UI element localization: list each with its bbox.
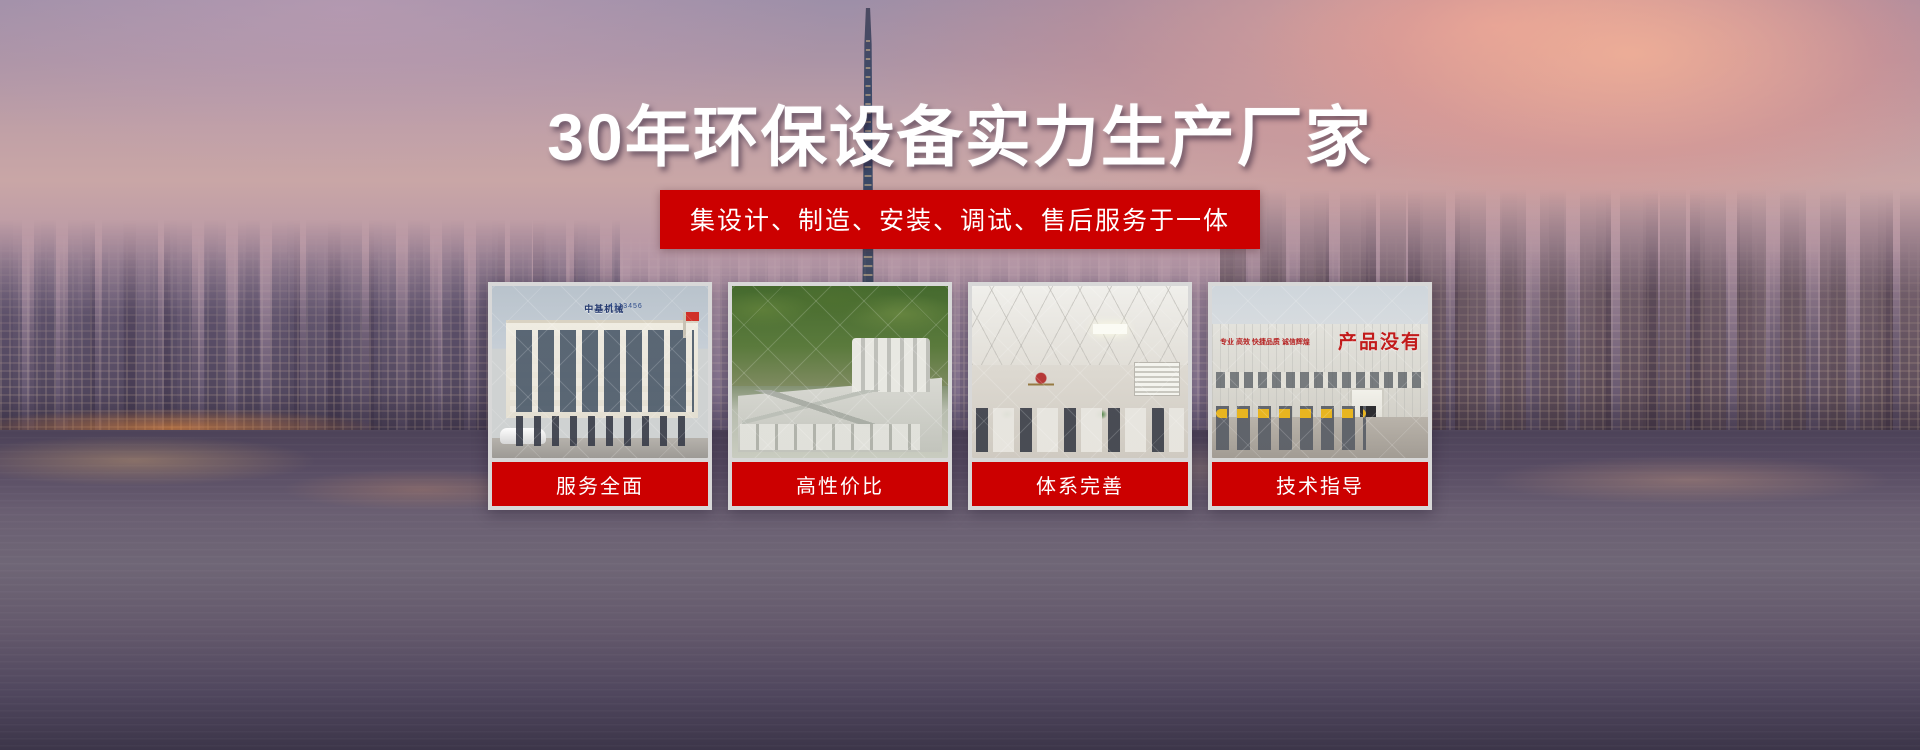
card-photo-factory-exterior: 产品没有 专业 高效 快捷品质 诚信辉煌 — [1212, 286, 1428, 458]
feature-card[interactable]: 产品没有 专业 高效 快捷品质 诚信辉煌 技术指导 — [1208, 282, 1432, 510]
factory-wall-slogan: 专业 高效 快捷品质 诚信辉煌 — [1220, 338, 1310, 349]
office-window-blinds — [1134, 362, 1180, 396]
feature-card[interactable]: 高性价比 — [728, 282, 952, 510]
card-photo-industrial-plant — [732, 286, 948, 458]
factory-windows — [1216, 372, 1424, 388]
storage-silos — [852, 338, 930, 392]
feature-card-list: 中基机械 4113456 服务全面 高性价比 — [0, 282, 1920, 510]
feature-card[interactable]: 中基机械 4113456 服务全面 — [488, 282, 712, 510]
building-windows — [510, 330, 694, 412]
flag-icon — [683, 312, 686, 338]
hero-banner: 30年环保设备实力生产厂家 集设计、制造、安装、调试、售后服务于一体 中基机械 … — [0, 0, 1920, 750]
banner-subtitle: 集设计、制造、安装、调试、售后服务于一体 — [660, 190, 1260, 249]
banner-headline: 30年环保设备实力生产厂家 — [0, 103, 1920, 172]
factory-roofs — [740, 424, 920, 450]
card-photo-office-building: 中基机械 4113456 — [492, 286, 708, 458]
safety-helmet-icon — [1216, 409, 1366, 418]
card-label: 体系完善 — [972, 462, 1188, 506]
wall-logo-icon — [1028, 372, 1054, 394]
factory-wall-headline: 产品没有 — [1338, 327, 1422, 354]
card-label: 技术指导 — [1212, 462, 1428, 506]
workstation-desks — [976, 408, 1184, 452]
feature-card[interactable]: 体系完善 — [968, 282, 1192, 510]
card-label: 高性价比 — [732, 462, 948, 506]
ceiling-grid — [972, 286, 1188, 365]
card-photo-office-interior — [972, 286, 1188, 458]
card-label: 服务全面 — [492, 462, 708, 506]
ceiling-light — [1093, 324, 1127, 334]
company-phone-text: 4113456 — [609, 303, 643, 310]
staff-lineup — [516, 416, 696, 446]
banner-subtitle-row: 集设计、制造、安装、调试、售后服务于一体 — [0, 190, 1920, 249]
